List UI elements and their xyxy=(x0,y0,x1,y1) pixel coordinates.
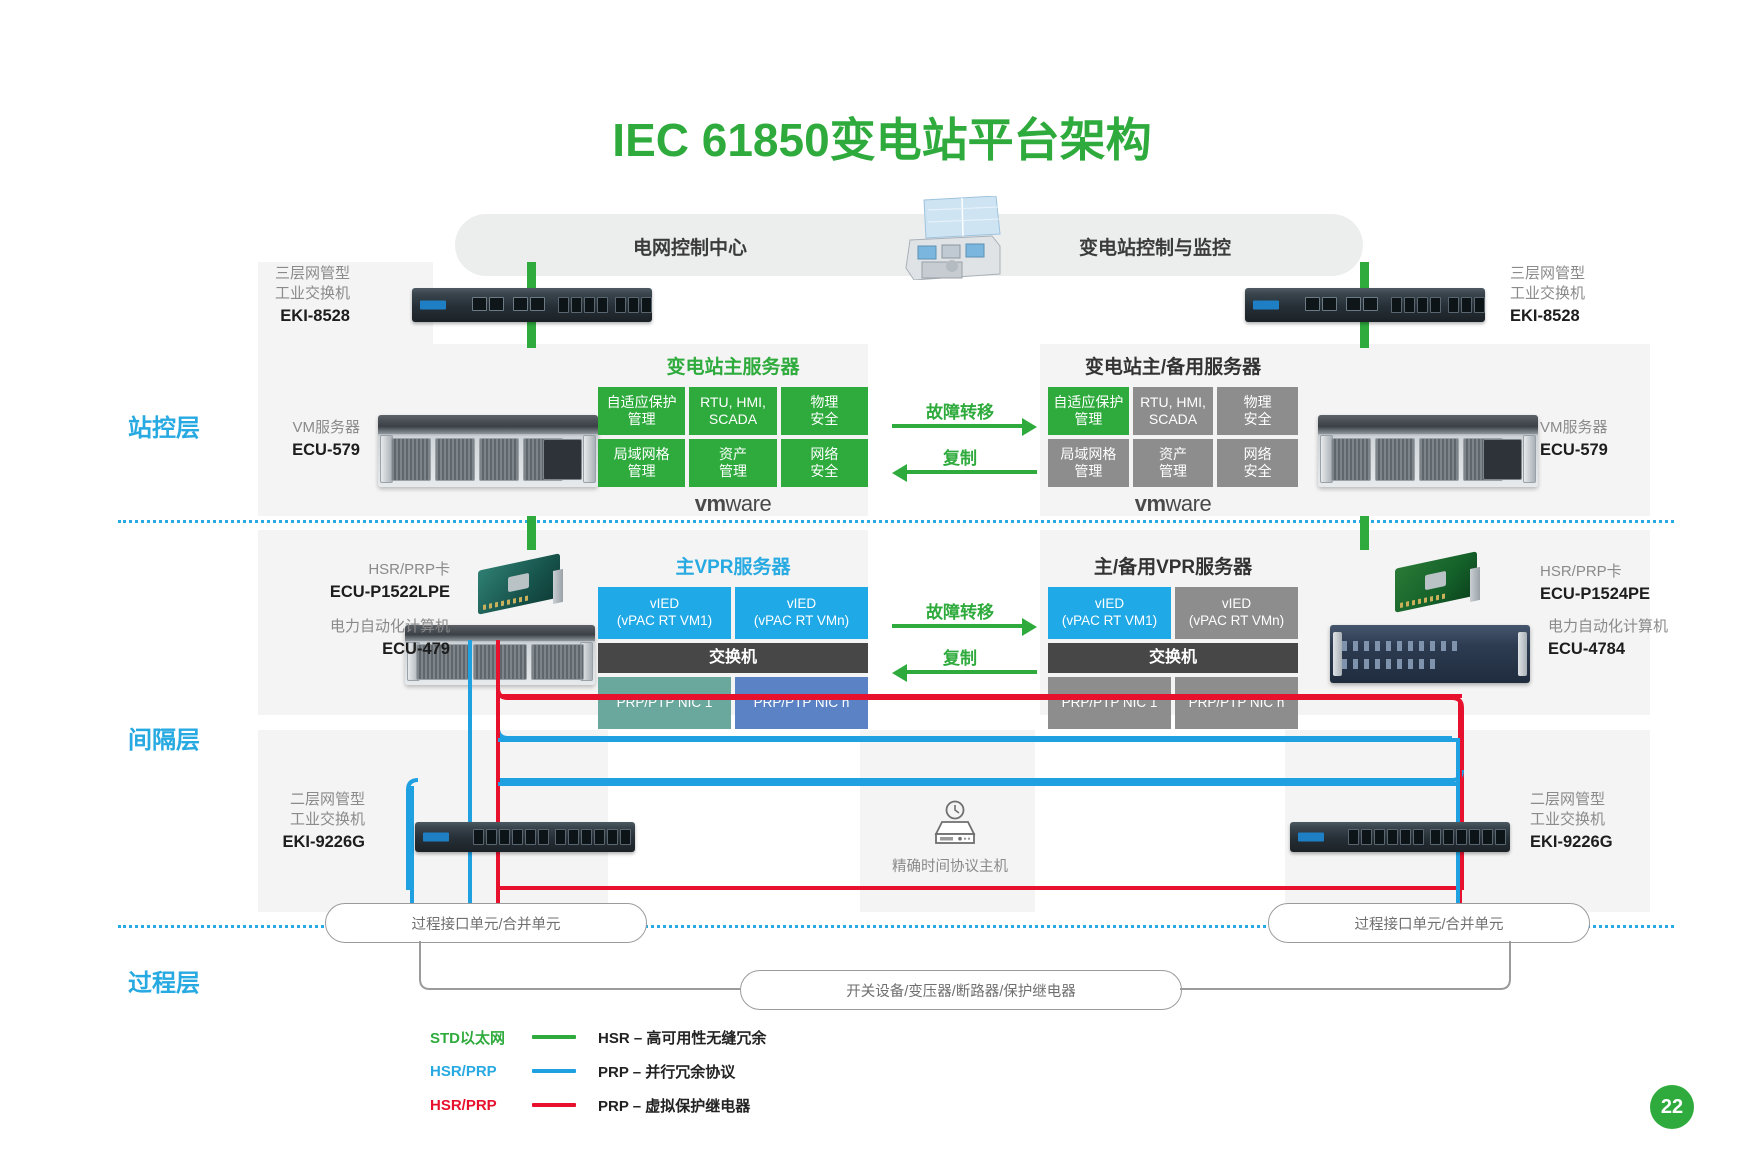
legend-swatch-prp xyxy=(532,1069,576,1073)
green-link-mid-right xyxy=(1360,516,1369,550)
label-switch-bottom-right: 二层网管型 工业交换机 EKI-9226G xyxy=(1530,790,1660,854)
vpr-right-vied-row: vIED(vPAC RT VM1) vIED(vPAC RT VMn) xyxy=(1048,587,1298,639)
cable-blue-lower-horizontal xyxy=(498,782,1458,786)
cell-physical-security-standby[interactable]: 物理安全 xyxy=(1217,387,1298,435)
green-link-mid-left xyxy=(527,516,536,550)
legend-row-prp: HSR/PRP PRP – 并行冗余协议 xyxy=(430,1058,850,1084)
vied-vmn-right[interactable]: vIED(vPAC RT VMn) xyxy=(1175,587,1298,639)
cable-red-left-vertical-a xyxy=(496,640,500,698)
label-switch-top-right-kind: 三层网管型 xyxy=(1510,265,1585,282)
failover-label-bay: 故障转移 xyxy=(880,598,1040,623)
replication-arrow-station-head xyxy=(892,464,907,482)
clock-icon xyxy=(920,800,990,850)
device-hsr-prp-card-right xyxy=(1395,560,1477,604)
green-link-top-right-down xyxy=(1360,318,1369,348)
label-switch-top-left-kind: 三层网管型 xyxy=(275,265,350,282)
label-vm-server-left-model: ECU-579 xyxy=(250,440,360,462)
vmware-logo-left-light: ware xyxy=(726,491,772,516)
label-automation-pc-right-kind: 电力自动化计算机 xyxy=(1548,618,1668,635)
cell-lan-management[interactable]: 局域网格管理 xyxy=(598,439,685,487)
legend-tag-vpr: HSR/PRP xyxy=(430,1097,526,1114)
legend-text-prp: PRP – 并行冗余协议 xyxy=(598,1061,735,1082)
station-server-right-title: 变电站主/备用服务器 xyxy=(1048,352,1298,379)
cell-rtu-hmi-scada[interactable]: RTU, HMI,SCADA xyxy=(689,387,776,435)
legend-text-std: HSR – 高可用性无缝冗余 xyxy=(598,1027,766,1048)
label-vm-server-right-model: ECU-579 xyxy=(1540,440,1660,462)
device-switch-eki9226g-left xyxy=(415,822,635,852)
label-switch-top-left-model: EKI-8528 xyxy=(240,306,350,328)
device-switch-eki8528-right xyxy=(1245,288,1485,322)
label-switch-top-right-kind2: 工业交换机 xyxy=(1510,285,1585,302)
label-hsr-prp-card-right-kind: HSR/PRP卡 xyxy=(1540,563,1622,580)
label-switch-top-right-model: EKI-8528 xyxy=(1510,306,1640,328)
legend-swatch-vpr xyxy=(532,1103,576,1107)
cell-rtu-hmi-scada-standby[interactable]: RTU, HMI,SCADA xyxy=(1133,387,1214,435)
replication-arrow-station-line xyxy=(907,470,1037,474)
vmware-logo-left-bold: vm xyxy=(695,491,726,516)
cell-network-security-standby[interactable]: 网络安全 xyxy=(1217,439,1298,487)
label-switch-bottom-right-kind: 二层网管型 xyxy=(1530,791,1605,808)
vpr-left-vied-row: vIED(vPAC RT VM1) vIED(vPAC RT VMn) xyxy=(598,587,868,639)
legend-tag-prp: HSR/PRP xyxy=(430,1063,526,1080)
vied-vm1-right[interactable]: vIED(vPAC RT VM1) xyxy=(1048,587,1171,639)
layer-label-station: 站控层 xyxy=(128,408,200,443)
failover-arrow-station-line xyxy=(892,424,1022,428)
legend-row-std: STD以太网 HSR – 高可用性无缝冗余 xyxy=(430,1024,850,1050)
vpr-server-right-title: 主/备用VPR服务器 xyxy=(1048,552,1298,579)
legend-row-vpr: HSR/PRP PRP – 虚拟保护继电器 xyxy=(430,1092,850,1118)
device-vm-server-left xyxy=(378,415,598,487)
vied-vmn-left[interactable]: vIED(vPAC RT VMn) xyxy=(735,587,868,639)
failover-arrow-bay-line xyxy=(892,624,1022,628)
station-server-right: 变电站主/备用服务器 自适应保护管理 RTU, HMI,SCADA 物理安全 局… xyxy=(1048,352,1298,517)
label-vm-server-left: VM服务器 ECU-579 xyxy=(250,418,360,462)
label-vm-server-left-kind: VM服务器 xyxy=(292,419,360,436)
label-switch-bottom-left-kind: 二层网管型 xyxy=(290,791,365,808)
vmware-logo-right-bold: vm xyxy=(1135,491,1166,516)
page-title: IEC 61850变电站平台架构 xyxy=(0,104,1764,170)
label-switch-bottom-right-model: EKI-9226G xyxy=(1530,832,1660,854)
vpr-server-left-title: 主VPR服务器 xyxy=(598,552,868,579)
vmware-logo-left: vmware xyxy=(598,491,868,517)
label-hsr-prp-card-right: HSR/PRP卡 ECU-P1524PE xyxy=(1540,562,1730,606)
legend-tag-std: STD以太网 xyxy=(430,1027,526,1048)
label-switch-top-right: 三层网管型 工业交换机 EKI-8528 xyxy=(1510,264,1640,328)
label-hsr-prp-card-left-model: ECU-P1522LPE xyxy=(300,582,450,604)
device-hsr-prp-card-left xyxy=(478,562,560,606)
layer-separator-1 xyxy=(118,520,1674,523)
label-vm-server-right: VM服务器 ECU-579 xyxy=(1540,418,1660,462)
station-server-left-title: 变电站主服务器 xyxy=(598,352,868,379)
cable-blue-left-short-vertical xyxy=(410,786,414,910)
label-automation-pc-left-kind: 电力自动化计算机 xyxy=(330,618,450,635)
label-switch-bottom-right-kind2: 工业交换机 xyxy=(1530,811,1605,828)
vied-vm1-left[interactable]: vIED(vPAC RT VM1) xyxy=(598,587,731,639)
cell-network-security[interactable]: 网络安全 xyxy=(781,439,868,487)
station-server-left: 变电站主服务器 自适应保护管理 RTU, HMI,SCADA 物理安全 局域网格… xyxy=(598,352,868,517)
cell-adaptive-protection[interactable]: 自适应保护管理 xyxy=(598,387,685,435)
label-hsr-prp-card-left-kind: HSR/PRP卡 xyxy=(368,561,450,578)
ptp-host-caption: 精确时间协议主机 xyxy=(855,855,1045,876)
label-switch-bottom-left-kind2: 工业交换机 xyxy=(290,811,365,828)
green-link-top-left-down xyxy=(527,318,536,348)
cable-red-left-vertical-b xyxy=(496,698,500,910)
station-server-left-grid: 自适应保护管理 RTU, HMI,SCADA 物理安全 局域网格管理 资产管理 … xyxy=(598,387,868,487)
header-label-substation-control: 变电站控制与监控 xyxy=(985,233,1325,260)
cell-physical-security[interactable]: 物理安全 xyxy=(781,387,868,435)
device-switch-eki8528-left xyxy=(412,288,652,322)
legend-swatch-std xyxy=(532,1035,576,1039)
label-hsr-prp-card-left: HSR/PRP卡 ECU-P1522LPE xyxy=(300,560,450,604)
station-server-right-grid: 自适应保护管理 RTU, HMI,SCADA 物理安全 局域网格管理 资产管理 … xyxy=(1048,387,1298,487)
header-label-grid-control-center: 电网控制中心 xyxy=(540,233,840,260)
failover-label-station: 故障转移 xyxy=(880,398,1040,423)
diagram-canvas: IEC 61850变电站平台架构 电网控制中心 变电站控制与监控 站控层 间隔层… xyxy=(0,0,1764,1172)
label-switch-bottom-left: 二层网管型 工业交换机 EKI-9226G xyxy=(245,790,365,854)
label-hsr-prp-card-right-model: ECU-P1524PE xyxy=(1540,584,1730,606)
label-switch-top-left: 三层网管型 工业交换机 EKI-8528 xyxy=(240,264,350,328)
vmware-logo-right: vmware xyxy=(1048,491,1298,517)
layer-label-process: 过程层 xyxy=(128,963,200,998)
control-room-icon xyxy=(900,196,1010,280)
legend-text-vpr: PRP – 虚拟保护继电器 xyxy=(598,1095,750,1116)
label-vm-server-right-kind: VM服务器 xyxy=(1540,419,1608,436)
page-number-badge: 22 xyxy=(1650,1085,1694,1129)
failover-arrow-station-head xyxy=(1022,418,1037,436)
vmware-logo-right-light: ware xyxy=(1166,491,1212,516)
label-switch-top-left-kind2: 工业交换机 xyxy=(275,285,350,302)
cell-asset-management-standby[interactable]: 资产管理 xyxy=(1133,439,1214,487)
cable-blue-upper-horizontal xyxy=(498,738,1458,742)
legend: STD以太网 HSR – 高可用性无缝冗余 HSR/PRP PRP – 并行冗余… xyxy=(430,1024,850,1126)
process-connectors xyxy=(320,935,1600,1015)
cable-red-bottom-horizontal xyxy=(496,886,1462,890)
cell-asset-management[interactable]: 资产管理 xyxy=(689,439,776,487)
cell-lan-management-standby[interactable]: 局域网格管理 xyxy=(1048,439,1129,487)
label-switch-bottom-left-model: EKI-9226G xyxy=(245,832,365,854)
cell-adaptive-protection-standby[interactable]: 自适应保护管理 xyxy=(1048,387,1129,435)
failover-arrow-bay-head xyxy=(1022,618,1037,636)
cable-blue-left-vertical xyxy=(468,640,472,910)
cable-red-top-horizontal xyxy=(496,694,1462,698)
device-vm-server-right xyxy=(1318,415,1538,487)
device-switch-eki9226g-right xyxy=(1290,822,1510,852)
